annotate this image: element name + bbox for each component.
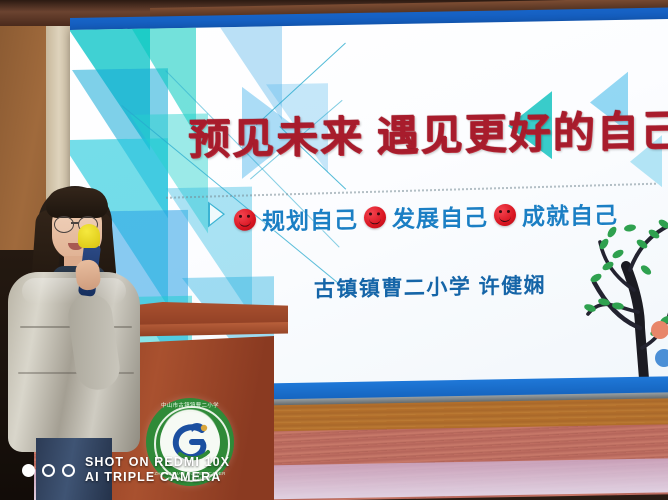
lens-dot-2 xyxy=(42,464,55,477)
eyeglass-lens-left xyxy=(54,216,74,233)
watermark-line-1: SHOT ON REDMI 10X xyxy=(85,455,230,470)
camera-lens-dots xyxy=(22,464,75,477)
hand-holding-microphone xyxy=(74,259,101,291)
camera-watermark: SHOT ON REDMI 10X AI TRIPLE CAMERA xyxy=(22,448,252,492)
lens-dot-1 xyxy=(22,464,35,477)
microphone-head-icon xyxy=(78,224,100,248)
subtitle-part-1: 规划自己 xyxy=(262,201,358,237)
smiley-face-icon-1 xyxy=(234,209,256,231)
hair-fringe xyxy=(46,188,108,218)
lens-dot-3 xyxy=(62,464,75,477)
smiley-face-icon-2 xyxy=(364,206,386,228)
eyeglass-bridge xyxy=(71,222,79,224)
slide-title: 预见未来 遇见更好的自己 xyxy=(188,97,648,166)
tree-mural-icon xyxy=(560,208,668,404)
photo-scene: 预见未来 遇见更好的自己 规划自己 发展自己 成就自己 古镇镇曹二小学 许健娴 xyxy=(0,0,668,500)
smiley-face-icon-3 xyxy=(494,204,516,226)
watermark-text: SHOT ON REDMI 10X AI TRIPLE CAMERA xyxy=(85,455,230,485)
subtitle-part-2: 发展自己 xyxy=(392,198,488,234)
watermark-line-2: AI TRIPLE CAMERA xyxy=(85,470,230,485)
